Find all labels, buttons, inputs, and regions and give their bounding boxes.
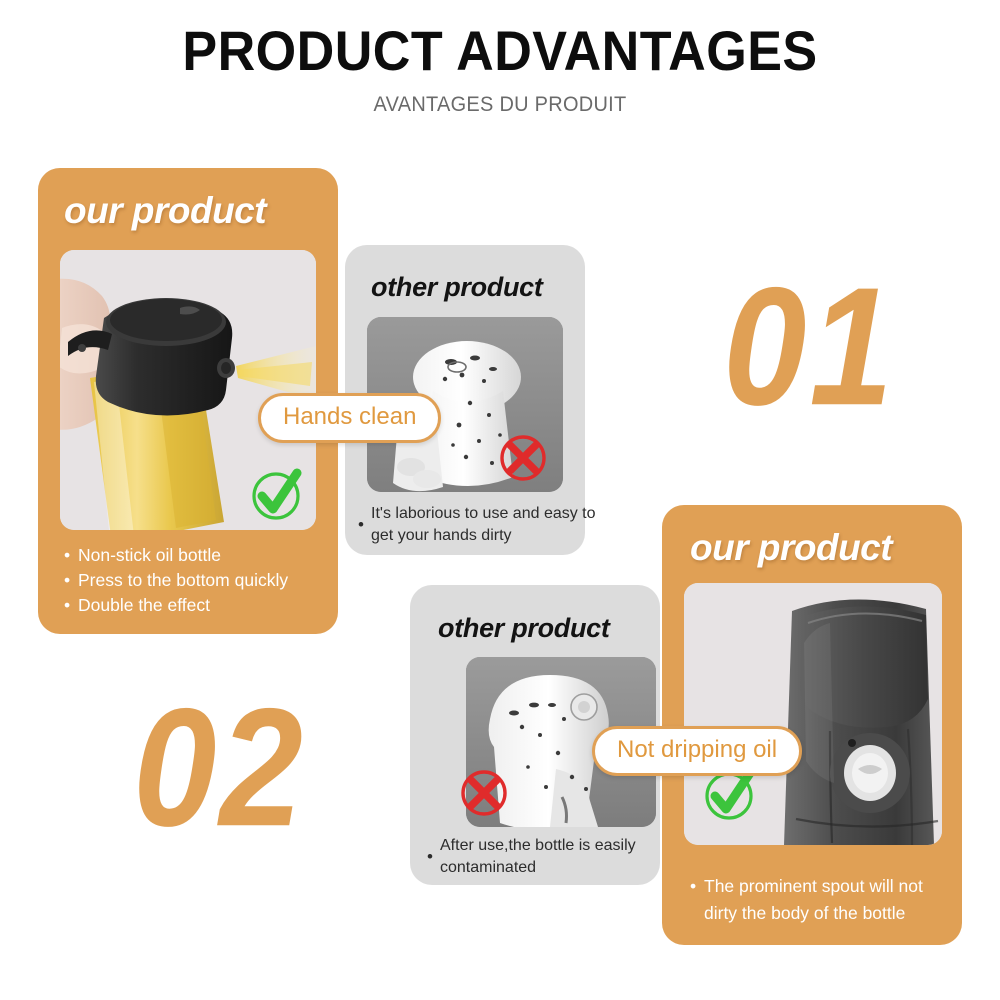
other-product-note-text-1: It's laborious to use and easy to get yo… [371,505,596,544]
our-product-heading-1: our product [64,190,266,232]
check-mark-1 [245,463,307,525]
step-number-01: 01 [723,262,896,430]
bullet-item: Non-stick oil bottle [64,543,288,568]
bullet-item: Press to the bottom quickly [64,568,288,593]
our-product-heading-2: our product [690,527,892,569]
step-number-02: 02 [133,683,306,851]
other-product-heading-2: other product [438,613,610,644]
bullet-item: The prominent spout will not dirty the b… [704,876,923,923]
page-title: PRODUCT ADVANTAGES [35,18,965,83]
other-product-note-1: • It's laborious to use and easy to get … [371,503,611,547]
our-product-bullets-1: Non-stick oil bottle Press to the bottom… [64,543,288,618]
bullet-dot: • [690,873,696,900]
other-product-note-text-2: After use,the bottle is easily contamina… [440,837,636,876]
other-product-note-2: • After use,the bottle is easily contami… [440,835,680,879]
hands-clean-badge: Hands clean [258,393,441,443]
our-product-bullets-2: • The prominent spout will not dirty the… [690,873,948,927]
bullet-item: Double the effect [64,593,288,618]
other-product-heading-1: other product [371,272,543,303]
page-subtitle: AVANTAGES DU PRODUIT [25,93,975,117]
cross-mark-2 [456,765,512,821]
bullet-dot: • [358,514,364,536]
bullet-dot: • [427,846,433,868]
not-dripping-oil-badge: Not dripping oil [592,726,802,776]
cross-mark-1 [495,430,551,486]
infographic-canvas: PRODUCT ADVANTAGES AVANTAGES DU PRODUIT … [0,0,1000,1000]
our-product-card-2: our product [662,505,962,945]
